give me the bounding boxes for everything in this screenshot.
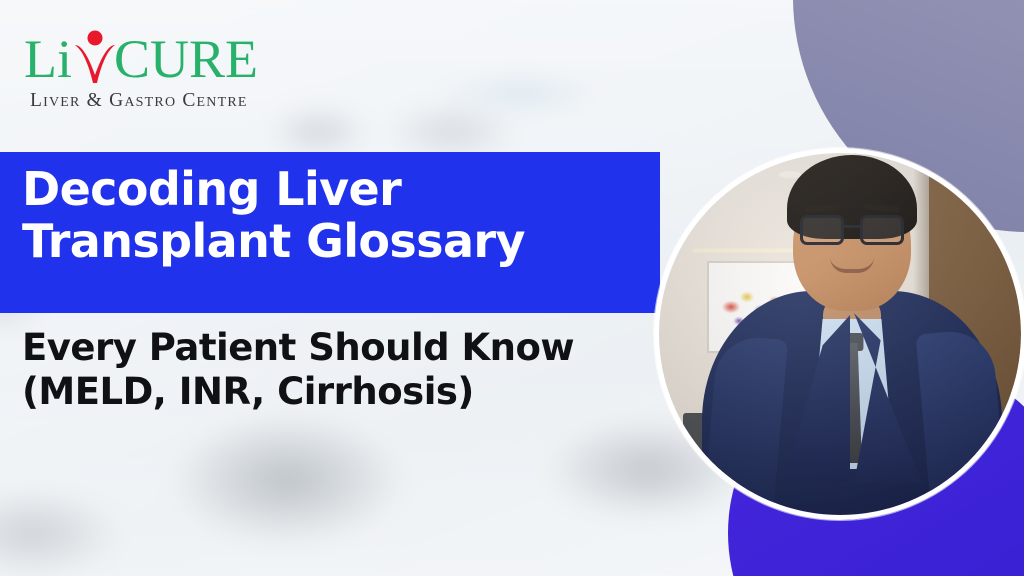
headline-title: Decoding Liver Transplant Glossary <box>0 152 660 313</box>
logo-text-li: Li <box>24 32 72 86</box>
logo-v-person-icon <box>73 28 117 86</box>
brand-logo[interactable]: Li CURE Liver & Gastro Centre <box>24 28 324 112</box>
doctor-portrait <box>654 148 1024 520</box>
logo-tagline: Liver & Gastro Centre <box>30 90 324 112</box>
logo-wordmark: Li CURE <box>24 28 324 86</box>
social-banner: Li CURE Liver & Gastro Centre Decoding L… <box>0 0 1024 576</box>
subtitle-line-2: (MELD, INR, Cirrhosis) <box>22 370 662 414</box>
headline-line-1: Decoding Liver <box>22 164 640 216</box>
subtitle-text: Every Patient Should Know (MELD, INR, Ci… <box>22 326 662 413</box>
logo-text-cure: CURE <box>114 32 258 86</box>
headline-line-2: Transplant Glossary <box>22 216 640 268</box>
doctor-photo <box>659 153 1021 515</box>
subtitle-line-1: Every Patient Should Know <box>22 326 662 370</box>
photo-vignette <box>659 153 1021 515</box>
